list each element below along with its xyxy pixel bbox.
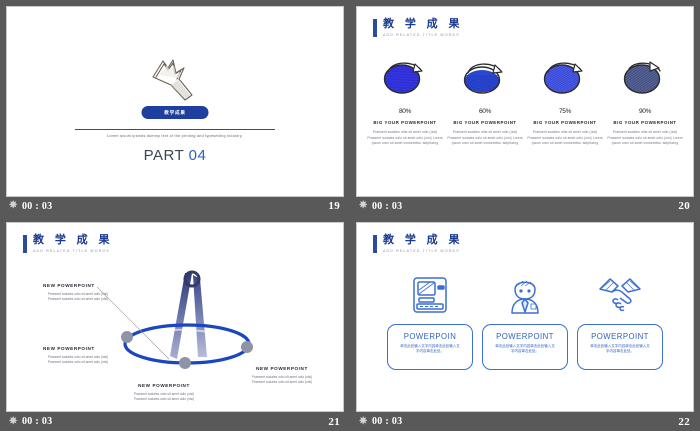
footer-time: 00 : 03: [372, 416, 402, 427]
star-icon: ✵: [359, 417, 369, 427]
slide-footer-20: ✵ 00 : 03 20: [356, 197, 694, 216]
page-number: 21: [328, 416, 340, 428]
atm-machine-icon: [408, 271, 452, 319]
sketch-circle-arrow-icon: [457, 55, 513, 97]
section-badge-label: 教学成果: [164, 110, 186, 116]
slide-cell-19[interactable]: 教学成果 Lorem ipsum ipsmds dummy text of th…: [0, 0, 350, 216]
footer-left-group: ✵ 00 : 03: [9, 416, 52, 427]
divider-rule: [75, 129, 275, 130]
stat-caption: BIG YOUR POWERPOINT: [533, 120, 596, 125]
header-accent-bar: [373, 19, 377, 37]
slide-header: 教 学 成 果 ADD RELATED TITLE WORDS: [373, 18, 463, 38]
card-body: 单击此处输入文字内容单击此处输入文字内容单击此处。: [589, 344, 651, 355]
sketch-circle-arrow-icon: [617, 55, 673, 97]
stat-body: Praesent sodales odio sit amet odio (nis…: [526, 130, 604, 147]
slide-footer-19: ✵ 00 : 03 19: [6, 197, 344, 216]
handshake-icon: [596, 271, 644, 319]
stat-item[interactable]: 60% BIG YOUR POWERPOINT Praesent sodales…: [445, 55, 525, 147]
stat-value: 60%: [479, 100, 491, 116]
part-number: 04: [189, 147, 207, 164]
slide-cell-22[interactable]: 教 学 成 果 ADD RELATED TITLE WORDS: [350, 216, 700, 431]
card-title: POWERPOIN: [404, 332, 457, 341]
callout-block[interactable]: NEW POWERPOINT Praesent sodales odio sit…: [129, 383, 199, 403]
stat-caption: BIG YOUR POWERPOINT: [453, 120, 516, 125]
section-lorem: Lorem ipsum ipsmds dummy text of the pri…: [7, 134, 343, 138]
callout-block[interactable]: NEW POWERPOINT Praesent sodales odio sit…: [43, 283, 113, 303]
callout-body: Praesent sodales odio sit amet odio (nis…: [43, 292, 113, 303]
sketch-circle-arrow-icon: [377, 55, 433, 97]
header-accent-bar: [23, 235, 27, 253]
info-card[interactable]: POWERPOINT 单击此处输入文字内容单击此处输入文字内容单击此处。: [577, 324, 663, 370]
slide-22[interactable]: 教 学 成 果 ADD RELATED TITLE WORDS: [356, 222, 694, 413]
stat-unit: %: [646, 108, 651, 115]
footer-left-group: ✵ 00 : 03: [9, 201, 52, 212]
callout-heading: NEW POWERPOINT: [43, 283, 113, 288]
slide-20[interactable]: 教 学 成 果 ADD RELATED TITLE WORDS: [356, 6, 694, 197]
callout-heading: NEW POWERPOINT: [247, 366, 317, 371]
slide-cell-21[interactable]: 教 学 成 果 ADD RELATED TITLE WORDS: [0, 216, 350, 431]
cards-row: POWERPOIN 单击此处输入文字内容单击此处输入文字内容单击此处。: [387, 271, 663, 370]
slide-footer-21: ✵ 00 : 03 21: [6, 412, 344, 431]
footer-time: 00 : 03: [22, 416, 52, 427]
stat-body: Praesent sodales odio sit amet odio (nis…: [366, 130, 444, 147]
callout-block[interactable]: NEW POWERPOINT Praesent sodales odio sit…: [247, 366, 317, 386]
stat-number: 75: [559, 108, 566, 115]
callout-heading: NEW POWERPOINT: [129, 383, 199, 388]
stat-value: 90%: [639, 100, 651, 116]
stat-unit: %: [566, 108, 571, 115]
sketch-circle-arrow-icon: [537, 55, 593, 97]
page-number: 19: [328, 200, 340, 212]
part-prefix: PART: [144, 147, 189, 164]
slide-title: 教 学 成 果: [383, 18, 463, 30]
slide-header: 教 学 成 果 ADD RELATED TITLE WORDS: [373, 234, 463, 254]
slide-thumbnail-grid: 教学成果 Lorem ipsum ipsmds dummy text of th…: [0, 0, 700, 431]
slide-21[interactable]: 教 学 成 果 ADD RELATED TITLE WORDS: [6, 222, 344, 413]
slide-footer-22: ✵ 00 : 03 22: [356, 412, 694, 431]
page-number: 22: [678, 416, 690, 428]
footer-time: 00 : 03: [372, 201, 402, 212]
stat-value: 75%: [559, 100, 571, 116]
footer-left-group: ✵ 00 : 03: [359, 416, 402, 427]
callout-block[interactable]: NEW POWERPOINT Praesent sodales odio sit…: [43, 346, 113, 366]
slide-cell-20[interactable]: 教 学 成 果 ADD RELATED TITLE WORDS: [350, 0, 700, 216]
stat-item[interactable]: 75% BIG YOUR POWERPOINT Praesent sodales…: [525, 55, 605, 147]
card-group[interactable]: POWERPOIN 单击此处输入文字内容单击此处输入文字内容单击此处。: [387, 271, 473, 370]
stat-item[interactable]: 90% BIG YOUR POWERPOINT Praesent sodales…: [605, 55, 685, 147]
star-icon: ✵: [9, 417, 19, 427]
callout-body: Praesent sodales odio sit amet odio (nis…: [43, 355, 113, 366]
page-number: 20: [678, 200, 690, 212]
card-group[interactable]: POWERPOINT 单击此处输入文字内容单击此处输入文字内容单击此处。: [482, 271, 568, 370]
stat-number: 60: [479, 108, 486, 115]
card-title: POWERPOINT: [591, 332, 649, 341]
stat-unit: %: [406, 108, 411, 115]
slide-title: 教 学 成 果: [33, 234, 113, 246]
footer-time: 00 : 03: [22, 201, 52, 212]
stats-row: 80% BIG YOUR POWERPOINT Praesent sodales…: [365, 55, 685, 147]
stat-unit: %: [486, 108, 491, 115]
footer-left-group: ✵ 00 : 03: [359, 201, 402, 212]
stat-body: Praesent sodales odio sit amet odio (nis…: [446, 130, 524, 147]
header-accent-bar: [373, 235, 377, 253]
callout-body: Praesent sodales odio sit amet odio (nis…: [129, 392, 199, 403]
card-body: 单击此处输入文字内容单击此处输入文字内容单击此处。: [494, 344, 556, 355]
sketch-arrow-icon: [135, 55, 215, 103]
slide-title: 教 学 成 果: [383, 234, 463, 246]
stat-value: 80%: [399, 100, 411, 116]
stat-number: 80: [399, 108, 406, 115]
slide-header: 教 学 成 果 ADD RELATED TITLE WORDS: [23, 234, 113, 254]
slide-subtitle: ADD RELATED TITLE WORDS: [383, 33, 463, 38]
star-icon: ✵: [359, 201, 369, 211]
card-body: 单击此处输入文字内容单击此处输入文字内容单击此处。: [399, 344, 461, 355]
stat-caption: BIG YOUR POWERPOINT: [613, 120, 676, 125]
stat-number: 90: [639, 108, 646, 115]
stat-body: Praesent sodales odio sit amet odio (nis…: [606, 130, 684, 147]
callout-body: Praesent sodales odio sit amet odio (nis…: [247, 375, 317, 386]
card-title: POWERPOINT: [496, 332, 554, 341]
slide-19[interactable]: 教学成果 Lorem ipsum ipsmds dummy text of th…: [6, 6, 344, 197]
slide-subtitle: ADD RELATED TITLE WORDS: [383, 249, 463, 254]
info-card[interactable]: POWERPOIN 单击此处输入文字内容单击此处输入文字内容单击此处。: [387, 324, 473, 370]
star-icon: ✵: [9, 201, 19, 211]
part-title: PART 04: [7, 147, 343, 164]
business-person-icon: [503, 271, 547, 319]
card-group[interactable]: POWERPOINT 单击此处输入文字内容单击此处输入文字内容单击此处。: [577, 271, 663, 370]
stat-item[interactable]: 80% BIG YOUR POWERPOINT Praesent sodales…: [365, 55, 445, 147]
callout-heading: NEW POWERPOINT: [43, 346, 113, 351]
info-card[interactable]: POWERPOINT 单击此处输入文字内容单击此处输入文字内容单击此处。: [482, 324, 568, 370]
stat-caption: BIG YOUR POWERPOINT: [373, 120, 436, 125]
slide-subtitle: ADD RELATED TITLE WORDS: [33, 249, 113, 254]
section-badge[interactable]: 教学成果: [142, 106, 209, 119]
